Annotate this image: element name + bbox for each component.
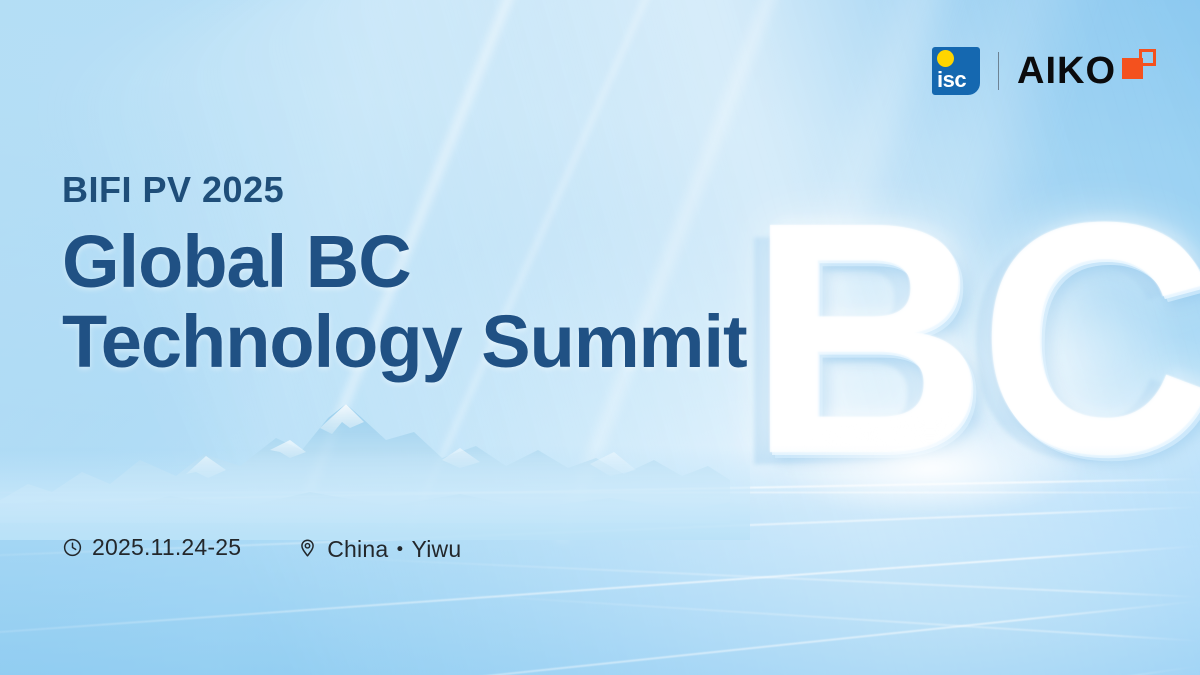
event-poster: BC BC BC (0, 0, 1200, 675)
orange-squares-icon (1122, 49, 1156, 79)
event-kicker: BIFI PV 2025 (62, 170, 762, 210)
headline-block: BIFI PV 2025 Global BC Technology Summit (62, 170, 762, 381)
event-meta-row: 2025.11.24-25 China・Yiwu (62, 530, 461, 564)
location-pin-icon (297, 537, 318, 558)
aiko-wordmark: AIKO (1017, 47, 1116, 95)
isc-wordmark: isc (937, 69, 966, 91)
logo-bar: isc AIKO (932, 42, 1156, 100)
sun-icon (937, 50, 954, 67)
event-location: China・Yiwu (297, 530, 461, 564)
event-location-label: China・Yiwu (327, 530, 461, 564)
page-title: Global BC Technology Summit (62, 222, 762, 382)
event-date: 2025.11.24-25 (62, 534, 241, 561)
logo-divider (998, 52, 999, 90)
orange-square-outline (1139, 49, 1156, 66)
clock-icon (62, 537, 83, 558)
mountain-range-graphic (0, 388, 730, 523)
floor-light-burst (720, 403, 1140, 533)
headline-line-2: Technology Summit (62, 302, 762, 382)
isc-logo: isc (932, 47, 980, 95)
headline-line-1: Global BC (62, 220, 411, 303)
aiko-logo: AIKO (1017, 47, 1156, 95)
event-date-label: 2025.11.24-25 (92, 534, 241, 561)
